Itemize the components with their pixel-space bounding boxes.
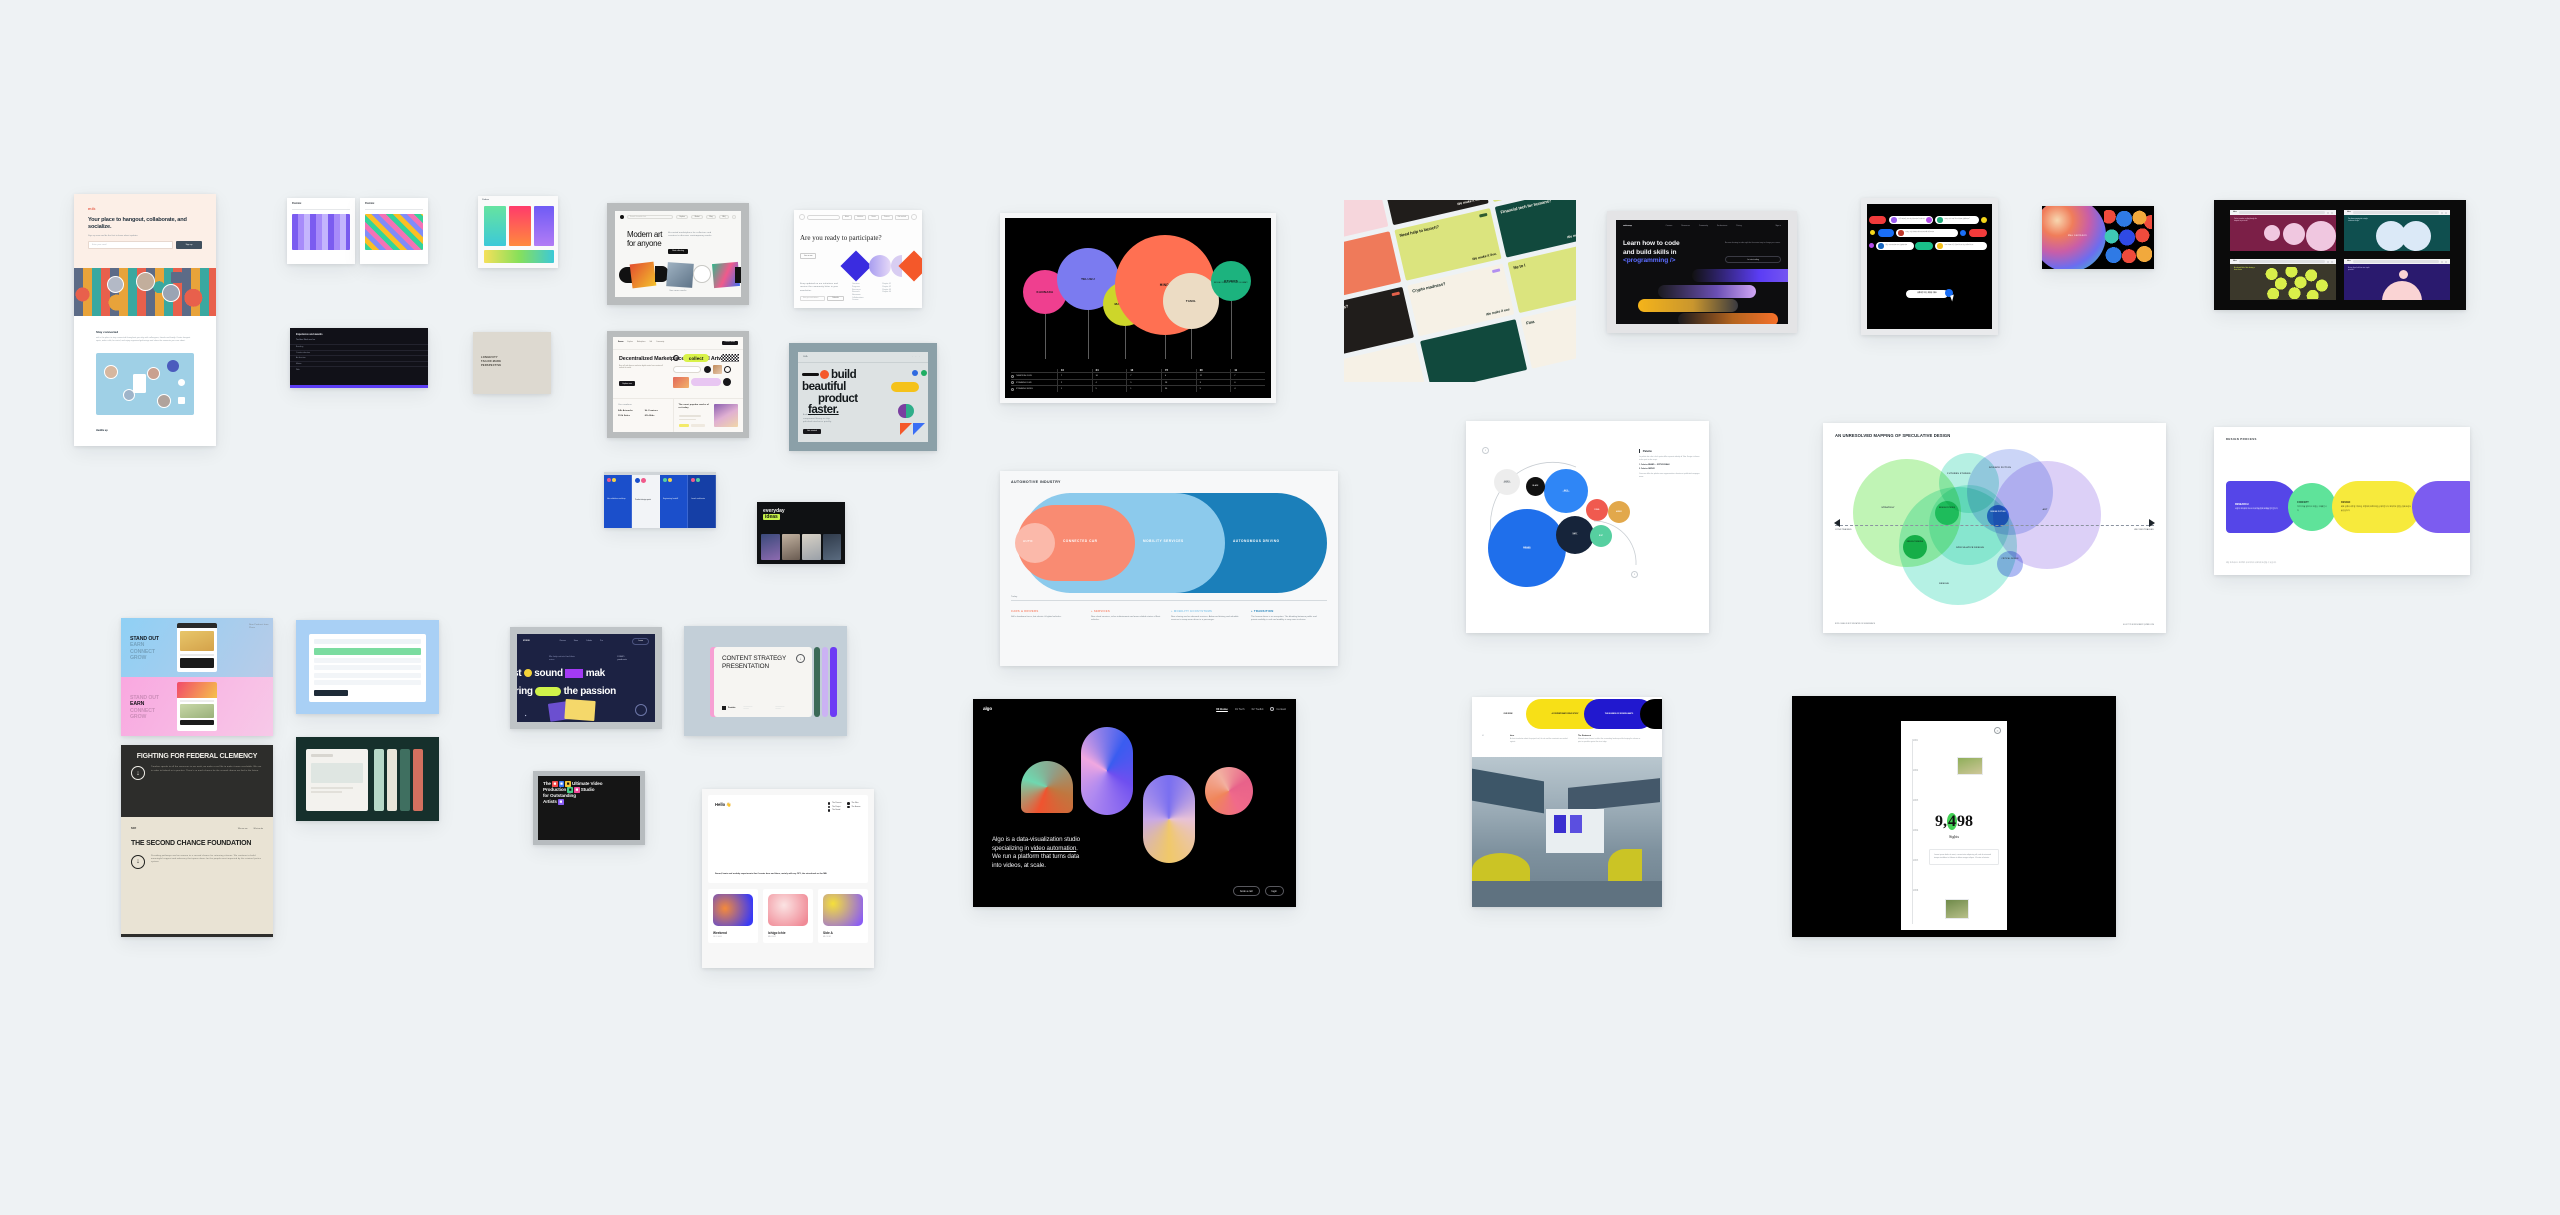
row-label: THEATRICAL FILMS — [1016, 375, 1032, 377]
sphere-label: due sunmoon — [2068, 234, 2087, 237]
track-card[interactable]: Ichigo Ichie MB / 03:02 — [763, 889, 813, 943]
poster-lines: The ■ ■ ■ Ultimate Video Production ■ ■ … — [543, 781, 635, 805]
board-item-clemency[interactable]: FIGHTING FOR FEDERAL CLEMENCY ↓ Timeline… — [121, 745, 273, 937]
panel-button[interactable] — [314, 690, 348, 696]
nav-item[interactable]: Pro — [600, 640, 603, 642]
cluster-node: GREY#EDEDED — [1494, 469, 1520, 495]
board-item-app-card-right[interactable]: Postmix — [360, 198, 428, 264]
board-item-participate[interactable]: About Initiatives Stories Partners Get i… — [794, 210, 922, 308]
poster-word: Studio — [581, 787, 595, 792]
glow-bar — [1692, 269, 1788, 282]
menu-item[interactable]: The Process — [828, 802, 842, 805]
scf-body: Providing pathways and an avenue to a se… — [151, 855, 263, 865]
cell: 5 — [1126, 380, 1161, 386]
nav-item-toolkit[interactable]: 02 Toolkit — [1252, 707, 1264, 711]
grid-cell-label: Engineering handoff — [663, 498, 684, 500]
nav-item[interactable]: Stories — [868, 215, 879, 220]
nav-item[interactable]: Resources — [1681, 225, 1690, 227]
mik-hero: mik Your place to hangout, collaborate, … — [74, 194, 216, 268]
board-item-mik-landing[interactable]: mik Your place to hangout, collaborate, … — [74, 194, 216, 446]
column-body: New sharing and on demand services. Adva… — [1171, 616, 1241, 623]
grid-cell-label: Launch and iterate — [691, 498, 712, 500]
venn-label: SPECULATIVE DESIGN — [1953, 547, 1987, 550]
menu-item[interactable]: The Project — [828, 806, 842, 809]
stat: 61k Bids — [645, 415, 668, 418]
card-question: Financial tech for humans? — [1500, 200, 1576, 215]
gradient-shape — [1143, 775, 1195, 863]
mik-footer: Huddle up — [96, 429, 194, 432]
total-cell: 72 — [1161, 369, 1196, 372]
board-item-gradient-swatches[interactable]: Colors — [478, 196, 558, 268]
link-item[interactable]: Chapter 04 — [882, 291, 904, 294]
process-step[interactable] — [2412, 481, 2470, 533]
board-item-video-production[interactable]: The ■ ■ ■ Ultimate Video Production ■ ■ … — [533, 771, 645, 845]
chat-text: 함께라면 어디든 재밌을 거예요 — [1917, 293, 1936, 295]
sights-value: 9,498 — [1935, 813, 1973, 831]
column-title: The Statement — [1578, 735, 1644, 737]
board-item-longevity[interactable]: LONGEVITY TAILOR-MADE PERSPECTIVE — [473, 332, 551, 394]
learn-code-body: Because learning to code might be the ea… — [1725, 242, 1781, 245]
nav-item[interactable]: Marketplace — [637, 342, 646, 343]
trending-title: The most popular works of art today — [679, 404, 710, 410]
sights-note: Lorem ipsum dolor sit amet, consectetur … — [1929, 849, 1999, 865]
ui-panel — [309, 634, 426, 702]
login-button[interactable]: login — [1265, 886, 1284, 896]
nav-item-tech[interactable]: 01 Tech — [1235, 707, 1245, 711]
search-input[interactable]: Search the world of art — [627, 215, 673, 219]
column-title: CARS & DRIVERS — [1011, 609, 1081, 613]
cursor-icon — [1950, 294, 1956, 301]
stat: 112k Sales — [618, 415, 641, 418]
mik-headline: Your place to hangout, collaborate, and … — [88, 217, 202, 231]
list-row — [314, 665, 421, 670]
venn-label: FUTURES STUDIES — [1947, 473, 1971, 476]
marketplace-cta[interactable]: Explore now — [619, 381, 635, 386]
grid-cell[interactable]: Product design sprint — [632, 475, 660, 528]
list-row — [314, 680, 421, 685]
nav-item[interactable]: Initiatives — [854, 215, 866, 220]
decor-blob — [1869, 216, 1886, 224]
copy-line: We run a platform that turns data — [992, 853, 1080, 862]
cap-segment — [1640, 699, 1662, 729]
total-cell: 11 — [1230, 369, 1265, 372]
grid-cell-label: Idea validation workshop — [607, 498, 628, 500]
cell: 4 — [1161, 373, 1196, 379]
board-item-learn-to-code[interactable]: codecamp Courses Resources Community For… — [1607, 211, 1797, 333]
mik-email-input[interactable]: Enter your email — [88, 241, 173, 249]
everyday-tiles — [761, 534, 841, 560]
board-item-nft-marketplace[interactable]: Kooma Explore Marketplace Sell Community… — [607, 331, 749, 438]
nav-item[interactable]: Community — [656, 342, 664, 343]
clemency-body: Timeline speaks to all the resources in … — [151, 766, 263, 772]
build-faster-cta[interactable]: Get started — [803, 429, 821, 434]
venn-critical-design — [1997, 551, 2023, 577]
design-process-footnote: 해당 프로세스는 프로젝트 규모에 따라 유연하게 조정될 수 있습니다 — [2226, 562, 2276, 565]
design-process-title: DESIGN PROCESS — [2226, 437, 2458, 441]
board-item-blue-ui[interactable] — [296, 620, 439, 714]
window-copy: Two forms merging into a single continuo… — [2348, 219, 2370, 224]
decor-blob — [1926, 217, 1932, 223]
mik-pattern-strip — [74, 268, 216, 316]
poster-word: Artists — [543, 799, 557, 804]
nav-item[interactable]: Courses — [1666, 225, 1673, 227]
browser-window[interactable]: Index Circles in motion, scaling through… — [2230, 210, 2336, 251]
modern-art-footer-cta[interactable]: See more works — [669, 290, 686, 293]
year-label: 2006 — [1913, 889, 1918, 892]
stand-out-words: STAND OUT EARN CONNECT GROW — [130, 695, 159, 720]
window-copy: A scattered field of dots forming a loos… — [2234, 268, 2256, 273]
subscribe-button[interactable]: Subscribe — [827, 296, 844, 301]
ui-card — [306, 749, 368, 811]
clemency-dark-panel: FIGHTING FOR FEDERAL CLEMENCY ↓ Timeline… — [121, 745, 273, 817]
automotive-column: + SERVICES New cloud services, richer in… — [1091, 609, 1161, 623]
nav-item[interactable]: Community — [1699, 225, 1708, 227]
chat-bubble[interactable]: 오늘 릴리즈 일정 공유드립니다 확인 부탁드립니다 — [1935, 242, 1987, 250]
column-title: + TRANSITION — [1251, 609, 1321, 613]
avatar — [157, 394, 171, 408]
scroll-down-icon[interactable]: ↓ — [131, 766, 145, 780]
nav-item[interactable]: About — [842, 215, 852, 220]
board-item-modern-art[interactable]: Search the world of art Explore Market B… — [607, 203, 749, 305]
menu-icon[interactable] — [911, 214, 917, 220]
badge: New Podcast from Plane — [249, 624, 269, 630]
cell: 10 — [1092, 373, 1127, 379]
board-item-content-strategy[interactable]: CONTENT STRATEGY PRESENTATION ↓ Portobio… — [684, 626, 847, 736]
window-label: Index — [2233, 212, 2237, 213]
app-card-title: Postmix — [360, 198, 428, 205]
nav-item[interactable]: FAQ — [719, 215, 729, 219]
process-step[interactable]: DESIGN 화면 설계와 비주얼 디자인을 진행하며 프로토타입을 제작합니다… — [2332, 481, 2420, 533]
cell: 4 — [1230, 386, 1265, 392]
studio-nav: STUDIO Classes Store Collabs Pro Learn — [517, 634, 655, 649]
scroll-down-icon[interactable]: ↓ — [796, 654, 805, 663]
board-item-browser-grid[interactable]: Index Circles in motion, scaling through… — [2214, 200, 2466, 310]
connect-wallet-button[interactable]: Connect wallet — [722, 341, 738, 345]
marketplace-brand: Kooma — [618, 342, 623, 343]
card-question: ake it. — [1344, 236, 1387, 261]
board-item-everyday-ideas[interactable]: everyday ideas — [757, 502, 845, 564]
cell: 1 — [1057, 386, 1092, 392]
nav-item-contact[interactable]: Contact — [1270, 707, 1286, 711]
speculative-title: AN UNRESOLVED MAPPING OF SPECULATIVE DES… — [1835, 433, 2154, 438]
hello-description: Sound, beats and melody experiments that… — [715, 873, 852, 876]
copy-line: Algo is a data-visualization studio — [992, 836, 1080, 845]
track-meta: MB / 03:02 — [768, 937, 808, 938]
sidebar-item: 2. Colorine SERVIZI — [1639, 468, 1701, 470]
process-step[interactable]: CONCEPT 아이디어를 발산하고 컨셉을 구체화합니다 — [2288, 483, 2336, 531]
algo-copy: Algo is a data-visualization studio spec… — [992, 836, 1080, 871]
menu-item[interactable]: The Sound — [828, 809, 842, 812]
speculative-credit: ELLIOTT P. MONTGOMERY | EPMID.COM — [2123, 625, 2154, 626]
cluster-node: BLACK — [1526, 477, 1545, 496]
cell: 3 — [1196, 380, 1231, 386]
brand-label: DIVA — [803, 356, 808, 358]
nav-item[interactable]: Classes — [559, 640, 565, 642]
chat-bubble[interactable]: 회의는 내일 오후 3시로 옮겨도 괜찮을까요? — [1935, 216, 1979, 224]
poster-word: The — [543, 781, 551, 786]
sound-note: We help artists find their voice — [549, 656, 577, 662]
hello-panel: Hello 👋 The Process The Files The Projec… — [708, 795, 868, 883]
mik-map-card — [133, 374, 146, 393]
timeline-photo — [1945, 899, 1969, 919]
pattern-artwork — [365, 214, 423, 250]
stage-auto — [1015, 523, 1055, 563]
gradient-shape — [1081, 727, 1133, 815]
avatar — [147, 367, 160, 380]
window-label: Index — [2347, 212, 2351, 213]
grid-cell[interactable]: Launch and iterate — [688, 475, 716, 528]
step-label: DESIGN — [2341, 501, 2411, 504]
hello-menu: The Process The Files The Project The Hu… — [828, 802, 861, 812]
venn-label: DESIGN FICTION — [1988, 512, 2008, 514]
decor-blob — [1981, 217, 1987, 223]
brand-dot-icon — [620, 215, 624, 219]
clemency-light-panel: SCF Who we are What we do THE SECOND CHA… — [121, 817, 273, 937]
design-process-blobs: RESEARCH 사용자 인터뷰와 데스크 리서치를 통해 문제를 정의합니다 … — [2226, 481, 2470, 533]
browser-window: Search the world of art Explore Market B… — [615, 211, 741, 297]
venn-label: SCIENCE FICTION — [1987, 467, 2013, 470]
board-item-bubble-chart[interactable]: KANNADA TELUGU MALAYALAM HINDI TAMIL OTH… — [1000, 213, 1276, 403]
axis-label-right: UNCONSTRAINED — [2134, 529, 2154, 531]
nav-item-home[interactable]: 00 Home — [1216, 707, 1228, 711]
marketplace-nav: Kooma Explore Marketplace Sell Community… — [613, 337, 743, 350]
track-name: Ichigo Ichie — [768, 931, 808, 935]
list-row — [314, 658, 421, 663]
nav-item[interactable]: For business — [1717, 225, 1727, 227]
step-body: 사용자 인터뷰와 데스크 리서치를 통해 문제를 정의합니다 — [2235, 508, 2289, 511]
sound-line-2: ring the passion — [517, 686, 616, 697]
table-row[interactable]: Web — [290, 366, 428, 372]
card-slogan: We make it eas — [1486, 308, 1511, 317]
window-copy: A rising figure built from two simple pr… — [2348, 268, 2370, 273]
nav-item[interactable]: What we do — [254, 828, 264, 830]
chat-bubble[interactable]: 좋은 아이디어네요 바로 반영해볼게요 — [1876, 242, 1914, 250]
menu-item[interactable]: The Human — [847, 806, 861, 809]
decor-blob — [1869, 243, 1874, 248]
step-label: CONCEPT — [2297, 501, 2327, 504]
board-item-sound-studio[interactable]: STUDIO Classes Store Collabs Pro Learn W… — [510, 627, 662, 729]
cluster-node: SKY#2F86F6 — [1544, 469, 1588, 513]
marketplace-body: Buy, sell and discover exclusive digital… — [613, 363, 668, 371]
newsletter-input[interactable]: Enter your email address — [800, 296, 825, 301]
grid-cell[interactable]: Engineering handoff — [660, 475, 688, 528]
mik-section-body: mik is the place to stay connected throu… — [96, 337, 194, 343]
nav-item[interactable]: Who we are — [238, 828, 248, 830]
longevity-text: LONGEVITY TAILOR-MADE PERSPECTIVE — [481, 356, 501, 368]
row-label: STREAMING FILMS — [1016, 382, 1031, 384]
participate-cta[interactable]: Join us now — [800, 253, 816, 259]
sign-in-link[interactable]: Sign in — [1775, 225, 1781, 227]
nav-item[interactable]: Sell — [650, 342, 653, 343]
year-label: 2001 — [1913, 739, 1918, 742]
venn-design-thinking — [1903, 535, 1927, 559]
board-item-app-card-left[interactable]: Postmix — [287, 198, 355, 264]
table-row: STREAMING SERIES 1 5 1 36 5 4 — [1011, 386, 1265, 392]
algo-brand: algo — [983, 706, 992, 711]
column-body: The human driver is an exception. The bl… — [1251, 616, 1321, 623]
marker: 2 — [1631, 571, 1638, 578]
board-item-speculative-design[interactable]: AN UNRESOLVED MAPPING OF SPECULATIVE DES… — [1823, 423, 2166, 633]
track-card[interactable]: Weekend OP-1 / 04:11 — [708, 889, 758, 943]
scf-headline: THE SECOND CHANCE FOUNDATION — [131, 840, 263, 849]
glow-bar — [1638, 299, 1738, 312]
cluster-sidebar: Palette La palette dei colori che le par… — [1639, 449, 1701, 479]
poster-word: Outstanding — [550, 793, 576, 798]
row-label: STREAMING SERIES — [1016, 388, 1033, 390]
board-item-dark-table[interactable]: Experience and awards Toolbox Mach and c… — [290, 328, 428, 388]
marketplace-footer: Our numbers 24k Artworks 9k Creators 112… — [613, 398, 743, 432]
book-a-call-button[interactable]: book a call — [1233, 886, 1259, 896]
browser-window[interactable]: Index A scattered field of dots forming … — [2230, 259, 2336, 300]
decor-blob — [1870, 230, 1875, 235]
cluster-arc — [1584, 517, 1648, 581]
nav-item[interactable]: Store — [574, 640, 578, 642]
account-icon[interactable] — [732, 215, 736, 219]
speculative-note: NOTE: SCALE IS NOT INDICATIVE OF SIGNIFI… — [1835, 624, 1875, 626]
stage-label: MOBILITY SERVICES — [1143, 539, 1184, 543]
mik-signup-button[interactable]: Sign up — [176, 241, 202, 249]
app-grid: Idea validation workshop Product design … — [604, 475, 716, 528]
poster-word: Production — [543, 787, 566, 792]
track-art — [713, 894, 753, 926]
axis-label-left: CONSTRAINED — [1835, 529, 1852, 531]
logo-icon — [799, 214, 805, 220]
nav-item[interactable]: Explore — [676, 215, 688, 219]
board-item-architecture[interactable]: OUR WORK A CONTEMPORARY SPACE STUDY THE … — [1472, 697, 1662, 907]
table-row: STREAMING FILMS 2 4 5 28 3 0 — [1011, 380, 1265, 387]
avatar — [107, 276, 124, 293]
cell: 7 — [1230, 373, 1265, 379]
browser-nav: Search the world of art Explore Market B… — [615, 211, 741, 223]
card-question: We make happen. — [1344, 200, 1374, 206]
learn-code-cta[interactable]: Let start coding — [1725, 256, 1781, 263]
window-copy: Circles in motion, scaling through the v… — [2234, 219, 2260, 224]
board-item-sights-timeline[interactable]: 2001 2002 2003 2004 2005 2006 ✕ 9,498 Si… — [1792, 696, 2116, 937]
board-item-gradient-sphere[interactable]: due sunmoon — [2042, 206, 2154, 269]
venn-design-futures — [1935, 501, 1959, 525]
nav-item[interactable]: Blog — [706, 215, 716, 219]
nav-item[interactable]: Collabs — [586, 640, 592, 642]
track-card[interactable]: Side A MF / 02:48 — [818, 889, 868, 943]
board-item-chat-bubbles[interactable]: 방금 보내드린 자료 확인해 주세요 감사합니다 회의는 내일 오후 3시로 옮… — [1861, 198, 1998, 335]
track-art — [768, 894, 808, 926]
stat: 9k Creators — [645, 410, 668, 413]
cta-button[interactable]: Learn — [632, 638, 649, 645]
chat-text: 디자인 시안 업데이트했습니다 피드백 부탁드려요 — [1906, 232, 1934, 234]
nav-item[interactable]: Get involved — [895, 215, 909, 220]
cell: 7 — [1057, 373, 1092, 379]
decor-blob — [1969, 229, 1987, 237]
card-slogan: We make it happen. — [1567, 229, 1576, 240]
cell: 0 — [1230, 380, 1265, 386]
board-item-app-grid[interactable]: Idea validation workshop Product design … — [604, 472, 716, 528]
column-body: A short introduction about the project b… — [1510, 739, 1568, 744]
decor-blob — [1878, 229, 1894, 237]
browser-window[interactable]: Index A rising figure built from two sim… — [2344, 259, 2450, 300]
poster-word: Video — [591, 781, 603, 786]
search-input[interactable] — [807, 215, 840, 220]
stand-out-top: STAND OUT EARN CONNECT GROW New Podcast … — [121, 618, 273, 677]
nav-item[interactable]: Explore — [627, 342, 632, 343]
browser-window[interactable]: Index Two forms merging into a single co… — [2344, 210, 2450, 251]
sidebar-title: Palette — [1643, 449, 1652, 453]
sidebar-item: 1. Colorine BRAND — ISTITUZIONALE — [1639, 464, 1701, 466]
presentation-slide[interactable]: CONTENT STRATEGY PRESENTATION ↓ Portobio… — [714, 647, 812, 717]
headline-accent: <programming /> — [1623, 257, 1675, 264]
marker: 1 — [1482, 447, 1489, 454]
stage-label: AUTO — [1023, 539, 1033, 543]
browser-grid: Index Circles in motion, scaling through… — [2230, 210, 2450, 300]
cell: 12 — [1196, 373, 1231, 379]
board-item-design-process[interactable]: DESIGN PROCESS RESEARCH 사용자 인터뷰와 데스크 리서치… — [2214, 427, 2470, 575]
column-body: Still a hardware focus, but electric & h… — [1011, 616, 1081, 620]
window-controls-icon[interactable]: ··· — [912, 356, 923, 358]
link-column-2: Chapter 01 Chapter 02 Chapter 03 Chapter… — [882, 283, 904, 302]
cell: 7 — [1126, 373, 1161, 379]
clemency-headline: FIGHTING FOR FEDERAL CLEMENCY — [131, 753, 263, 761]
column-title: Intro — [1510, 735, 1568, 737]
nav-item[interactable]: Pricing — [1736, 225, 1742, 227]
mik-map-illustration — [96, 353, 194, 415]
track-art — [823, 894, 863, 926]
swatch — [484, 206, 506, 246]
track-name: Weekend — [713, 931, 753, 935]
menu-item[interactable]: The Files — [847, 802, 861, 805]
bubble-chart: KANNADA TELUGU MALAYALAM HINDI TAMIL OTH… — [1005, 218, 1271, 398]
modern-art-cta[interactable]: Start collecting — [668, 249, 688, 254]
chat-text: 회의는 내일 오후 3시로 옮겨도 괜찮을까요? — [1945, 219, 1970, 221]
cell: 5 — [1196, 386, 1231, 392]
nav-item[interactable]: Partners — [881, 215, 893, 220]
scroll-down-icon[interactable]: ↓ — [131, 855, 145, 869]
card-slogan: We make it work. — [1457, 200, 1485, 207]
board-item-hello-sound[interactable]: Hello 👋 The Process The Files The Projec… — [702, 789, 874, 968]
participate-nav: About Initiatives Stories Partners Get i… — [794, 210, 922, 220]
total-cell: 24 — [1092, 369, 1127, 372]
everyday-headline: everyday ideas — [757, 502, 845, 520]
nav-item[interactable]: Market — [691, 215, 703, 219]
copy-link[interactable]: video automation — [1031, 845, 1077, 852]
swatch-label: Colors — [478, 196, 558, 201]
link-column-1: Overview Programs Resources Research New… — [852, 283, 874, 302]
automotive-column: + MOBILITY ECOSYSTEMS New sharing and on… — [1171, 609, 1241, 623]
board-item-build-faster[interactable]: DIVA ··· build beautiful product faster.… — [789, 343, 937, 451]
link-item[interactable]: Careers — [852, 299, 874, 302]
board-item-stand-out[interactable]: STAND OUT EARN CONNECT GROW New Podcast … — [121, 618, 273, 736]
board-item-teal-ui[interactable] — [296, 737, 439, 821]
bubble-sublabel: BENGALI MARATHI PUNJABI GUJARATI — [1214, 283, 1248, 284]
board-item-automotive-diagram[interactable]: AUTOMOTIVE INDUSTRY AUTO CONNECTED CAR M… — [1000, 471, 1338, 666]
venn-label: DESIGN — [1931, 583, 1957, 586]
participate-shapes — [845, 253, 919, 283]
swatch — [484, 250, 554, 263]
dot-field — [2104, 210, 2152, 265]
mik-map-badge — [167, 360, 179, 372]
board-item-algo[interactable]: algo 00 Home 01 Tech 02 Toolkit Contact … — [973, 699, 1296, 907]
grid-cell[interactable]: Idea validation workshop — [604, 475, 632, 528]
chat-bubble-active[interactable]: 함께라면 어디든 재밌을 거예요 — [1906, 290, 1948, 298]
year-label: 2003 — [1913, 799, 1918, 802]
stat: 24k Artworks — [618, 410, 641, 413]
track-meta: MF / 02:48 — [823, 937, 863, 938]
automotive-column: CARS & DRIVERS Still a hardware focus, b… — [1011, 609, 1081, 623]
architecture-photo — [1472, 757, 1662, 907]
board-item-rotated-card-grid[interactable]: We make happen. Unexpected chaos?We make… — [1344, 200, 1576, 382]
automotive-column: + TRANSITION The human driver is an exce… — [1251, 609, 1321, 623]
chat-bubble[interactable]: 디자인 시안 업데이트했습니다 피드백 부탁드려요 — [1896, 229, 1958, 237]
close-icon[interactable]: ✕ — [1994, 727, 2001, 734]
board-item-color-cluster[interactable]: 1 BRAND#1F6FEB SKY#2F86F6 GREY#EDEDED BL… — [1466, 421, 1709, 633]
